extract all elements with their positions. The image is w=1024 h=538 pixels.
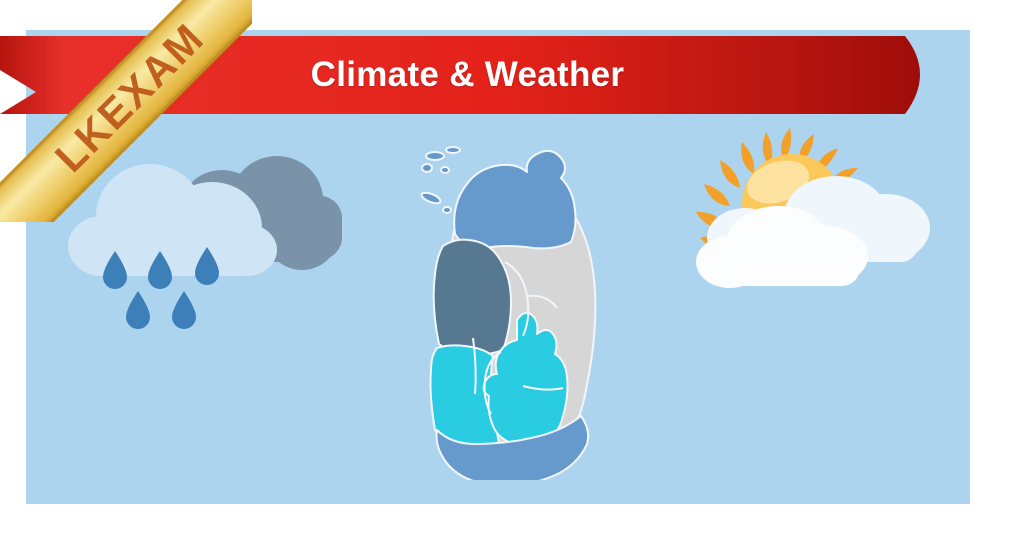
map-region-northwest <box>434 240 511 355</box>
sun-behind-cloud-icon <box>650 120 930 300</box>
sri-lanka-climate-zones-map <box>413 124 617 480</box>
lkexam-corner-ribbon: LKEXAM <box>0 0 252 222</box>
map-islands <box>420 147 460 213</box>
ribbon-label: LKEXAM <box>46 14 213 181</box>
slide-canvas: Climate & Weather LKEXAM <box>0 0 1024 538</box>
map-region-north <box>454 151 575 249</box>
